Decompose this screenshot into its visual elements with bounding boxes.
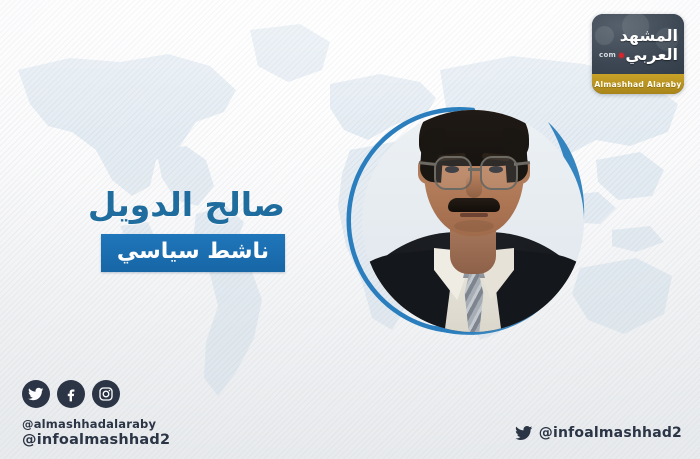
- logo-arabic-line-2: العربي: [625, 47, 678, 63]
- news-profile-card: المشهد العربي com Almashhad Alaraby: [0, 0, 700, 459]
- corner-handle-block[interactable]: @infoalmashhad2: [515, 424, 682, 442]
- social-block: @almashhadalaraby @infoalmashhad2: [22, 380, 170, 450]
- portrait-frame: [340, 58, 610, 343]
- twitter-icon: [515, 424, 533, 442]
- subject-title-label: ناشط سياسي: [117, 241, 269, 263]
- facebook-icon[interactable]: [57, 380, 85, 408]
- logo-arabic-line-1: المشهد: [620, 28, 678, 44]
- corner-handle-label: @infoalmashhad2: [539, 425, 682, 441]
- social-icons-row: [22, 380, 170, 408]
- subject-name: صالح الدويل: [88, 188, 285, 221]
- twitter-icon[interactable]: [22, 380, 50, 408]
- instagram-icon[interactable]: [92, 380, 120, 408]
- logo-red-dot-icon: [619, 53, 624, 58]
- handle-secondary[interactable]: @infoalmashhad2: [22, 431, 170, 450]
- social-handles: @almashhadalaraby @infoalmashhad2: [22, 417, 170, 450]
- handle-primary[interactable]: @almashhadalaraby: [22, 417, 170, 431]
- subject-title-badge: ناشط سياسي: [101, 234, 285, 272]
